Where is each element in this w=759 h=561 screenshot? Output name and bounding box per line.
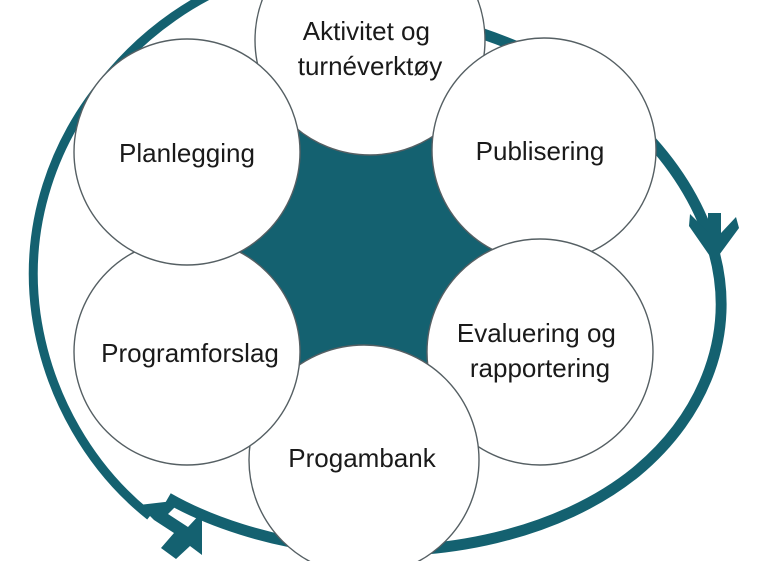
bubble-label-publisering: Publisering — [476, 136, 605, 166]
bubble-label-planlegging: Planlegging — [119, 138, 255, 168]
bubble-label-progambank: Progambank — [288, 443, 436, 473]
arrow-right-down-icon — [689, 213, 739, 262]
cycle-diagram: Aktivitet og turnéverktøy Publisering Ev… — [0, 0, 759, 561]
cycle-diagram-canvas: Aktivitet og turnéverktøy Publisering Ev… — [0, 0, 759, 561]
bubble-label-programforslag: Programforslag — [101, 338, 279, 368]
bubble-programforslag[interactable]: Programforslag — [74, 239, 300, 465]
bubble-publisering[interactable]: Publisering — [432, 38, 656, 262]
bubble-planlegging[interactable]: Planlegging — [74, 39, 300, 265]
